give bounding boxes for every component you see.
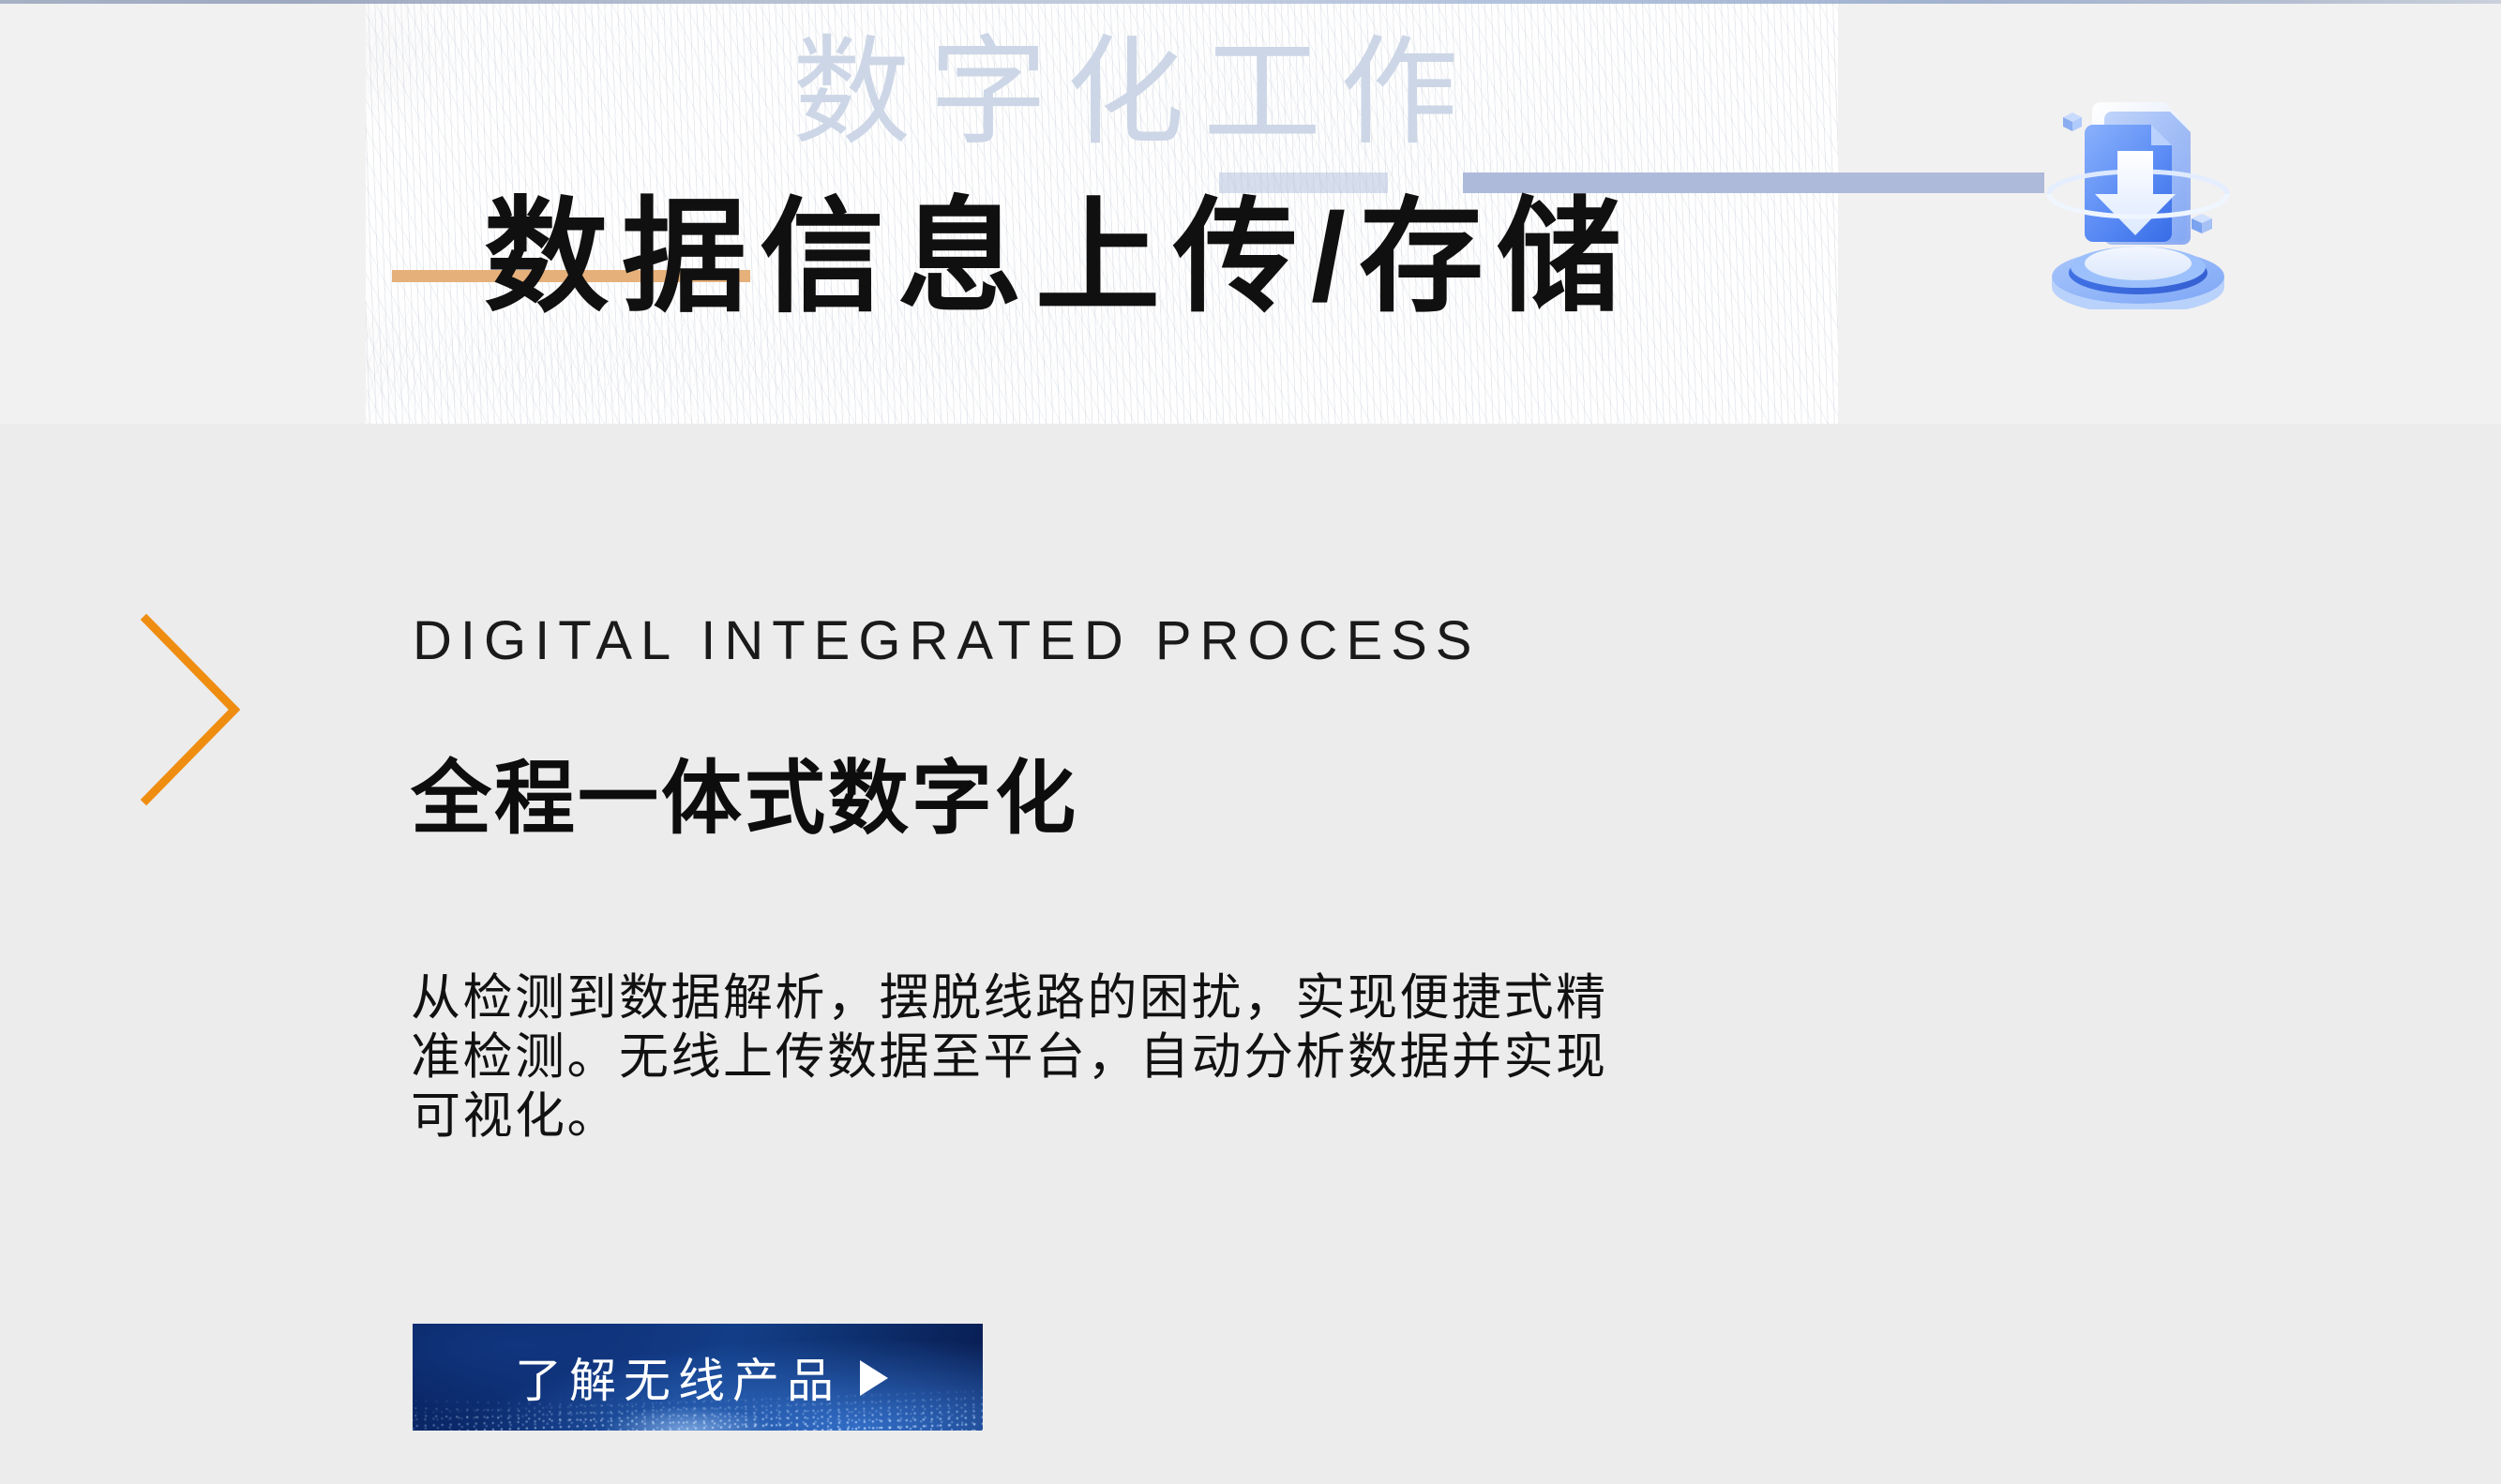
section-paragraph: 从检测到数据解析，摆脱线路的困扰，实现便捷式精准检测。无线上传数据至平台，自动分… [411,968,1630,1146]
page-header: 数字化工作 数据信息上传/存储 [0,0,2501,424]
chevron-right-icon [141,614,244,806]
learn-more-wireless-products-button[interactable]: 了解无线产品 [413,1324,983,1431]
page-title: 数据信息上传/存储 [484,196,1635,321]
slide-root: 数字化工作 数据信息上传/存储 [0,0,2501,1484]
cta-label: 了解无线产品 [507,1343,841,1411]
page-body [0,424,2501,1484]
section-eyebrow: DIGITAL INTEGRATED PROCESS [413,614,1481,668]
top-accent-rule [0,0,2501,4]
file-download-3d-icon [2007,52,2279,309]
section-headline: 全程一体式数字化 [411,758,1078,839]
play-triangle-icon [860,1360,888,1396]
cta-content: 了解无线产品 [413,1324,983,1431]
header-watermark-text: 数字化工作 [792,34,1477,152]
